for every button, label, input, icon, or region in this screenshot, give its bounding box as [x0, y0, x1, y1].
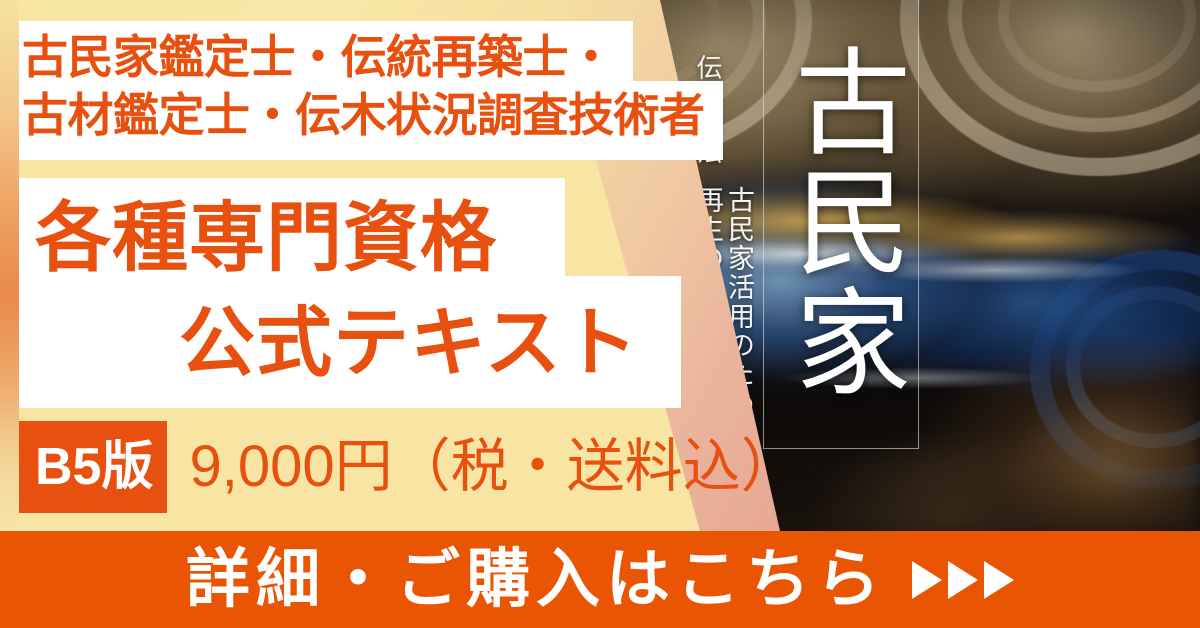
triangle-right-icon	[984, 561, 1014, 599]
promotional-banner: 古民家 伝統構法 古民家活用のための調査と再生の 古民家鑑定士・伝統再築士・ 古…	[0, 0, 1200, 628]
format-badge: B5版	[19, 421, 167, 513]
cover-title: 古民家	[768, 2, 912, 442]
triangle-right-icon	[948, 561, 978, 599]
left-gradient-strip	[0, 0, 19, 531]
price-amount: 9,000円（税・送料込）	[189, 421, 798, 513]
triangle-right-icon	[912, 561, 942, 599]
headline-line-2: 公式テキスト	[19, 291, 685, 396]
price-row: B5版 9,000円（税・送料込）	[19, 421, 799, 513]
cta-arrows	[912, 561, 1014, 599]
cta-button[interactable]: 詳細・ご購入はこちら	[0, 531, 1200, 628]
certifications-text: 古民家鑑定士・伝統再築士・ 古材鑑定士・伝木状況調査技術者	[19, 28, 729, 144]
page-title: 各種専門資格 公式テキスト	[19, 186, 685, 396]
certification-line-1: 古民家鑑定士・伝統再築士・	[19, 28, 729, 86]
cta-label: 詳細・ご購入はこちら	[186, 531, 886, 628]
headline-line-1: 各種専門資格	[19, 186, 685, 291]
certification-line-2: 古材鑑定士・伝木状況調査技術者	[19, 86, 729, 144]
